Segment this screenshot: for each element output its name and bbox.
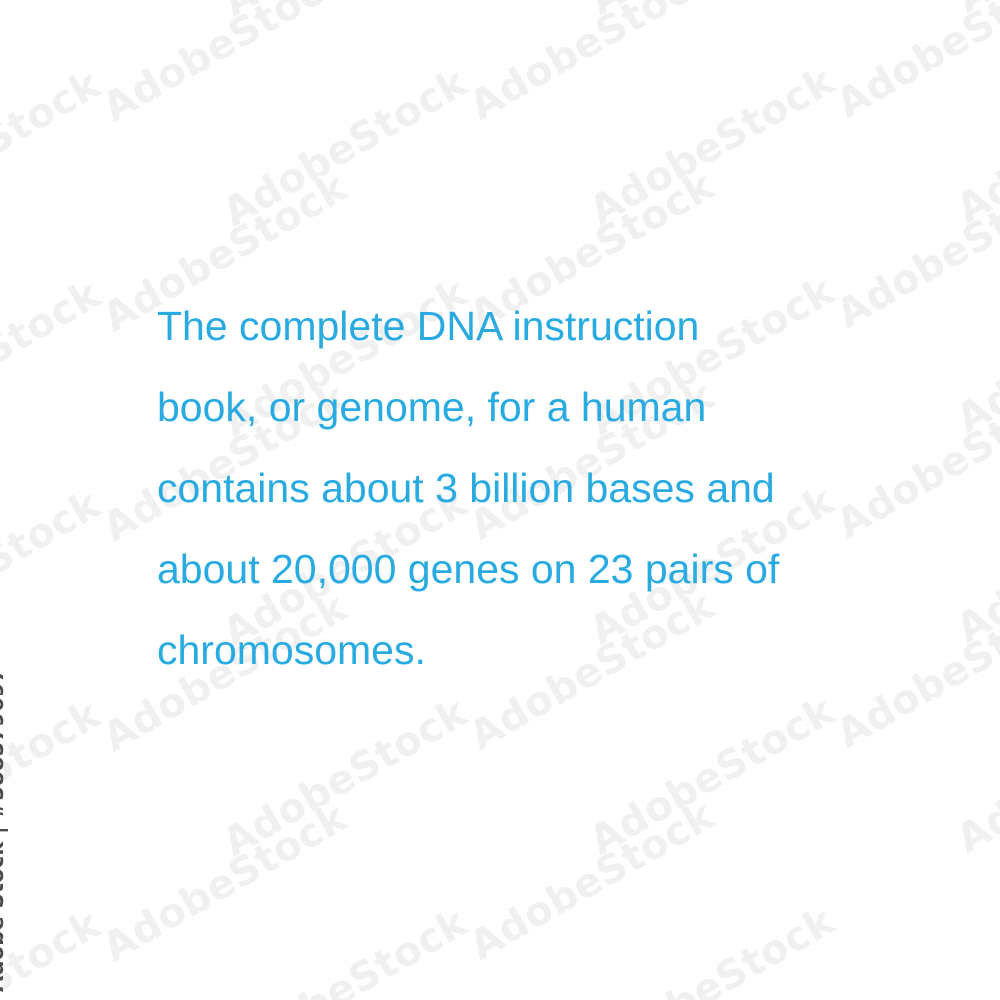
quote-line: chromosomes.: [157, 610, 867, 691]
watermark-label: AdobeStock: [215, 60, 475, 237]
quote-line: about 20,000 genes on 23 pairs of: [157, 529, 867, 610]
watermark-label: AdobeStock: [582, 898, 842, 1000]
watermark-label: AdobeStock: [95, 795, 355, 972]
watermark-label: AdobeStock: [582, 688, 842, 865]
watermark-label: AdobeStock: [949, 266, 1000, 443]
watermark-label: AdobeStock: [215, 900, 475, 1000]
watermark-label: AdobeStock: [949, 0, 1000, 23]
watermark-label: AdobeStock: [0, 481, 108, 658]
watermark-label: AdobeStock: [215, 0, 475, 26]
watermark-row: AdobeStockAdobeStockAdobeStockAdobeStock…: [0, 0, 1000, 28]
watermark-label: AdobeStock: [582, 0, 842, 24]
adobe-stock-credit-watermark: Adobe Stock | #588579697: [0, 668, 8, 993]
quote-text-block: The complete DNA instruction book, or ge…: [157, 286, 867, 691]
watermark-label: AdobeStock: [95, 0, 355, 131]
watermark-label: AdobeStock: [215, 690, 475, 867]
watermark-label: AdobeStock: [462, 793, 722, 970]
watermark-label: AdobeStock: [0, 61, 108, 238]
watermark-label: AdobeStock: [0, 271, 108, 448]
watermark-label: AdobeStock: [949, 476, 1000, 653]
watermark-row: AdobeStockAdobeStockAdobeStockAdobeStock…: [0, 0, 1000, 238]
watermark-row: AdobeStockAdobeStockAdobeStockAdobeStock…: [0, 0, 1000, 133]
watermark-label: AdobeStock: [829, 0, 1000, 128]
watermark-label: AdobeStock: [0, 691, 108, 868]
watermark-label: AdobeStock: [462, 0, 722, 129]
quote-line: The complete DNA instruction: [157, 286, 867, 367]
watermark-label: AdobeStock: [949, 686, 1000, 863]
image-canvas: AdobeStockAdobeStockAdobeStockAdobeStock…: [0, 0, 1000, 1000]
watermark-label: AdobeStock: [0, 0, 108, 28]
watermark-label: AdobeStock: [0, 901, 108, 1000]
watermark-label: AdobeStock: [582, 58, 842, 235]
watermark-label: AdobeStock: [949, 56, 1000, 233]
quote-line: contains about 3 billion bases and: [157, 448, 867, 529]
watermark-row: AdobeStockAdobeStockAdobeStockAdobeStock…: [0, 698, 1000, 1000]
quote-line: book, or genome, for a human: [157, 367, 867, 448]
